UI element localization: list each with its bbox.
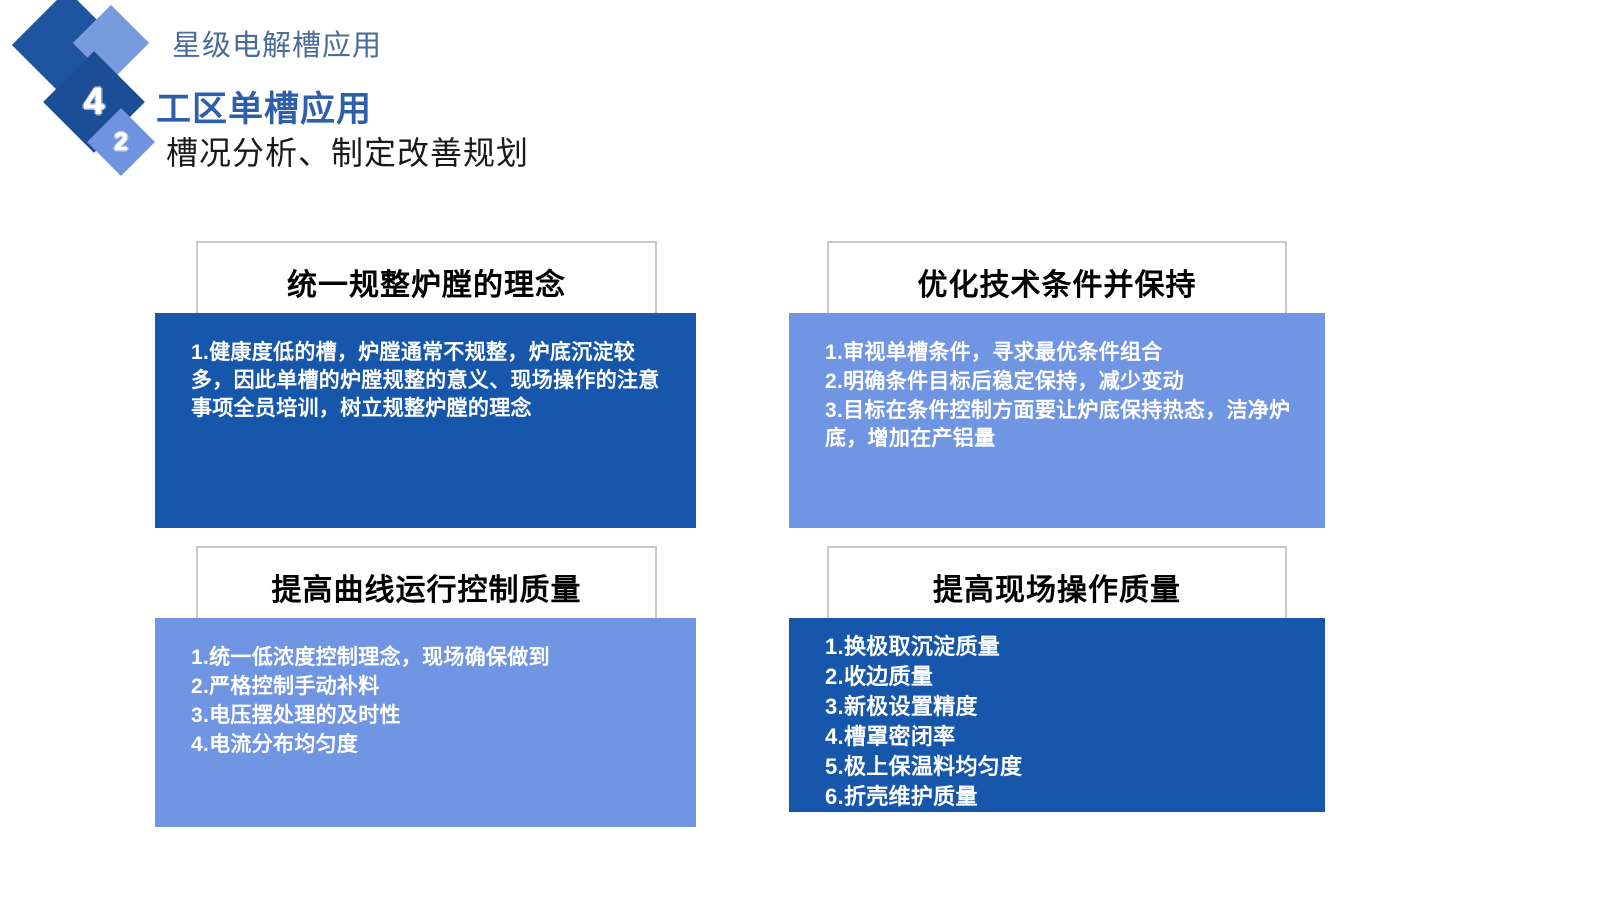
list-item: 1.换极取沉淀质量	[825, 632, 1301, 661]
list-item: 2.严格控制手动补料	[191, 673, 672, 701]
card-header: 优化技术条件并保持	[827, 241, 1287, 319]
card-header: 统一规整炉膛的理念	[196, 241, 657, 319]
list-item: 3.目标在条件控制方面要让炉底保持热态，洁净炉底，增加在产铝量	[825, 397, 1301, 453]
list-item: 4.电流分布均匀度	[191, 731, 672, 759]
list-item: 2.收边质量	[825, 662, 1301, 691]
card-body: 1.换极取沉淀质量 2.收边质量 3.新极设置精度 4.槽罩密闭率 5.极上保温…	[789, 618, 1325, 812]
list-item: 6.折壳维护质量	[825, 782, 1301, 811]
card-item-list: 1.审视单槽条件，寻求最优条件组合 2.明确条件目标后稳定保持，减少变动 3.目…	[825, 339, 1301, 454]
list-item: 4.槽罩密闭率	[825, 722, 1301, 751]
header-eyebrow: 星级电解槽应用	[172, 22, 382, 64]
card-title: 提高曲线运行控制质量	[272, 565, 582, 609]
page-title: 工区单槽应用	[156, 81, 372, 132]
slide-canvas: 4 2 星级电解槽应用 工区单槽应用 槽况分析、制定改善规划 统一规整炉膛的理念…	[0, 0, 1600, 900]
list-item: 3.电压摆处理的及时性	[191, 702, 672, 730]
card-title: 优化技术条件并保持	[918, 260, 1197, 304]
list-item: 3.新极设置精度	[825, 692, 1301, 721]
card-header: 提高曲线运行控制质量	[196, 546, 657, 624]
card-item-list: 1.统一低浓度控制理念，现场确保做到 2.严格控制手动补料 3.电压摆处理的及时…	[191, 644, 672, 760]
card-title: 提高现场操作质量	[933, 565, 1181, 609]
list-item: 1.统一低浓度控制理念，现场确保做到	[191, 644, 672, 672]
card-title: 统一规整炉膛的理念	[287, 260, 566, 304]
list-item: 1.审视单槽条件，寻求最优条件组合	[825, 339, 1301, 367]
card-body: 1.审视单槽条件，寻求最优条件组合 2.明确条件目标后稳定保持，减少变动 3.目…	[789, 313, 1325, 528]
page-subtitle: 槽况分析、制定改善规划	[166, 128, 529, 174]
card-item-list: 1.换极取沉淀质量 2.收边质量 3.新极设置精度 4.槽罩密闭率 5.极上保温…	[825, 632, 1301, 841]
slide-header: 4 2 星级电解槽应用 工区单槽应用 槽况分析、制定改善规划	[0, 0, 1600, 200]
list-item: 7.氧化维护质量	[825, 812, 1301, 841]
list-item: 2.明确条件目标后稳定保持，减少变动	[825, 368, 1301, 396]
card-body: 1.健康度低的槽，炉膛通常不规整，炉底沉淀较多，因此单槽的炉膛规整的意义、现场操…	[155, 313, 696, 528]
card-body: 1.统一低浓度控制理念，现场确保做到 2.严格控制手动补料 3.电压摆处理的及时…	[155, 618, 696, 827]
card-header: 提高现场操作质量	[827, 546, 1287, 624]
card-item-list: 1.健康度低的槽，炉膛通常不规整，炉底沉淀较多，因此单槽的炉膛规整的意义、现场操…	[191, 339, 672, 423]
diamond-badge-secondary-label: 2	[97, 118, 145, 166]
list-item: 1.健康度低的槽，炉膛通常不规整，炉底沉淀较多，因此单槽的炉膛规整的意义、现场操…	[191, 339, 672, 423]
diamond-badge-secondary-icon: 2	[87, 108, 155, 176]
list-item: 5.极上保温料均匀度	[825, 752, 1301, 781]
